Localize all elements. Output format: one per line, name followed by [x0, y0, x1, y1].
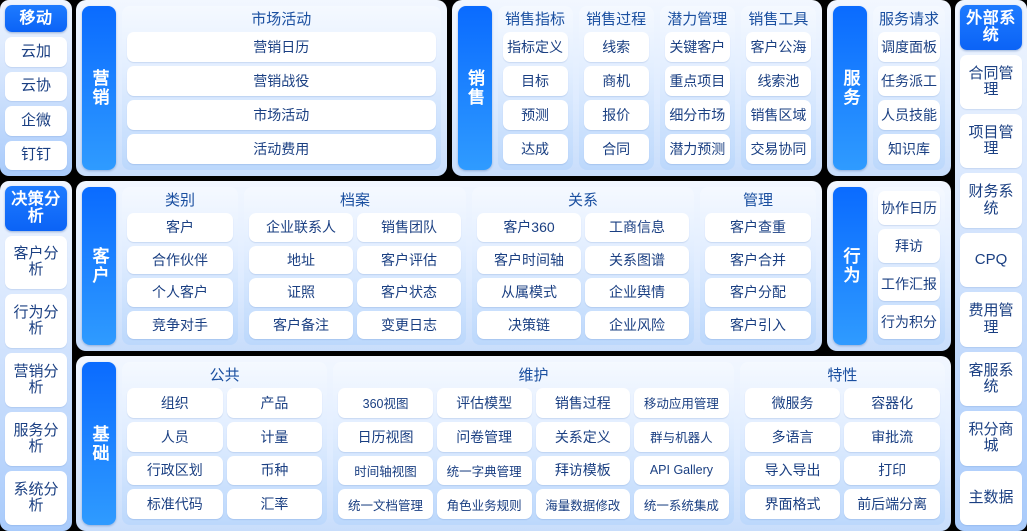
sidebar-item-行为分析[interactable]: 行为分析 [5, 294, 67, 348]
sidebar-item-服务分析[interactable]: 服务分析 [5, 412, 67, 466]
content-row: 基础公共组织产品人员计量行政区划币种标准代码汇率维护360视图评估模型销售过程移… [76, 356, 951, 531]
application-root: 移动云加云协企微钉钉决策分析客户分析行为分析营销分析服务分析系统分析 营销市场活… [0, 0, 1027, 531]
tile-决策链[interactable]: 决策链 [477, 311, 581, 340]
group-title: 销售指标 [503, 10, 568, 32]
sidebar-item-云加[interactable]: 云加 [5, 37, 67, 66]
tile-360视图[interactable]: 360视图 [338, 388, 433, 418]
section-tab-label: 行为 [842, 247, 859, 285]
tile-竞争对手[interactable]: 竞争对手 [127, 311, 233, 340]
group-管理: 管理客户查重客户合并客户分配客户引入 [700, 187, 816, 345]
tile-前后端分离[interactable]: 前后端分离 [844, 489, 940, 519]
tile-营销战役[interactable]: 营销战役 [127, 66, 436, 96]
tile-拜访模板[interactable]: 拜访模板 [536, 456, 631, 486]
tile-客户时间轴[interactable]: 客户时间轴 [477, 246, 581, 275]
sidebar-item-营销分析[interactable]: 营销分析 [5, 353, 67, 407]
tile-统一系统集成[interactable]: 统一系统集成 [634, 489, 729, 519]
tile-指标定义[interactable]: 指标定义 [503, 32, 568, 62]
left-rail-header: 决策分析 [5, 186, 67, 231]
group-title: 类别 [127, 191, 233, 213]
tile-界面格式[interactable]: 界面格式 [745, 489, 841, 519]
group-title: 销售过程LTC [584, 10, 649, 32]
tile-地址[interactable]: 地址 [249, 246, 353, 275]
tile-合作伙伴[interactable]: 合作伙伴 [127, 246, 233, 275]
group-grid: 指标定义目标预测达成 [503, 32, 568, 164]
left-rail-header: 移动 [5, 5, 67, 32]
tile-企业联系人[interactable]: 企业联系人 [249, 213, 353, 242]
group-销售过程LTC: 销售过程LTC线索商机报价合同 [579, 6, 654, 170]
tile-行政区划[interactable]: 行政区划 [127, 456, 223, 486]
tile-标准代码[interactable]: 标准代码 [127, 489, 223, 519]
tile-多语言[interactable]: 多语言 [745, 422, 841, 452]
tile-客户公海[interactable]: 客户公海 [746, 32, 811, 62]
tile-销售团队[interactable]: 销售团队 [357, 213, 461, 242]
tile-组织[interactable]: 组织 [127, 388, 223, 418]
tile-工商信息[interactable]: 工商信息 [585, 213, 689, 242]
group-grid: 360视图评估模型销售过程移动应用管理日历视图问卷管理关系定义群与机器人时间轴视… [338, 388, 729, 519]
sidebar-item-云协[interactable]: 云协 [5, 72, 67, 101]
tile-人员技能[interactable]: 人员技能 [878, 100, 940, 130]
tile-个人客户[interactable]: 个人客户 [127, 278, 233, 307]
group-销售工具: 销售工具客户公海线索池销售区域交易协同 [741, 6, 816, 170]
left-rail-panel: 移动云加云协企微钉钉 [0, 0, 72, 176]
tile-人员[interactable]: 人员 [127, 422, 223, 452]
tile-销售区域[interactable]: 销售区域 [746, 100, 811, 130]
group-行为: 协作日历拜访工作汇报行为积分 [873, 187, 945, 345]
group-grid: 营销日历营销战役市场活动活动费用 [127, 32, 436, 164]
tile-从属模式[interactable]: 从属模式 [477, 278, 581, 307]
tile-合同[interactable]: 合同 [584, 134, 649, 164]
group-档案: 档案企业联系人销售团队地址客户评估证照客户状态客户备注变更日志 [244, 187, 466, 345]
tile-企业风险[interactable]: 企业风险 [585, 311, 689, 340]
right-sidebar: 外部系统合同管理项目管理财务系统CPQ费用管理客服系统积分商城主数据 [955, 0, 1027, 531]
sidebar-item-系统分析[interactable]: 系统分析 [5, 471, 67, 525]
group-公共: 公共组织产品人员计量行政区划币种标准代码汇率 [122, 362, 327, 525]
tile-客户引入[interactable]: 客户引入 [705, 311, 811, 340]
tile-海量数据修改[interactable]: 海量数据修改 [536, 489, 631, 519]
sidebar-item-CPQ[interactable]: CPQ [960, 233, 1022, 287]
group-grid: 客户360工商信息客户时间轴关系图谱从属模式企业舆情决策链企业风险 [477, 213, 689, 339]
tile-打印[interactable]: 打印 [844, 456, 940, 486]
tile-预测[interactable]: 预测 [503, 100, 568, 130]
group-关系: 关系客户360工商信息客户时间轴关系图谱从属模式企业舆情决策链企业风险 [472, 187, 694, 345]
tile-审批流[interactable]: 审批流 [844, 422, 940, 452]
group-销售指标: 销售指标指标定义目标预测达成 [498, 6, 573, 170]
tile-行为积分[interactable]: 行为积分 [878, 305, 940, 339]
section-营销: 营销市场活动营销日历营销战役市场活动活动费用 [76, 0, 447, 176]
group-grid: 关键客户重点项目细分市场潜力预测 [665, 32, 730, 164]
right-rail-panel: 外部系统合同管理项目管理财务系统CPQ费用管理客服系统积分商城主数据 [955, 0, 1027, 531]
tile-变更日志[interactable]: 变更日志 [357, 311, 461, 340]
tile-统一文档管理[interactable]: 统一文档管理 [338, 489, 433, 519]
tile-群与机器人[interactable]: 群与机器人 [634, 422, 729, 452]
main-content: 营销市场活动营销日历营销战役市场活动活动费用销售销售指标指标定义目标预测达成销售… [76, 0, 951, 531]
content-row: 客户类别客户合作伙伴个人客户竞争对手档案企业联系人销售团队地址客户评估证照客户状… [76, 181, 951, 351]
content-row: 营销市场活动营销日历营销战役市场活动活动费用销售销售指标指标定义目标预测达成销售… [76, 0, 951, 176]
section-tab-客户[interactable]: 客户 [82, 187, 116, 345]
tile-微服务[interactable]: 微服务 [745, 388, 841, 418]
tile-客户分配[interactable]: 客户分配 [705, 278, 811, 307]
group-container: 服务请求调度面板任务派工人员技能知识库 [873, 6, 945, 170]
sidebar-item-主数据[interactable]: 主数据 [960, 471, 1022, 525]
tile-活动费用[interactable]: 活动费用 [127, 134, 436, 164]
group-类别: 类别客户合作伙伴个人客户竞争对手 [122, 187, 238, 345]
tile-产品[interactable]: 产品 [227, 388, 323, 418]
group-title: 潜力管理 [665, 10, 730, 32]
tile-工作汇报[interactable]: 工作汇报 [878, 267, 940, 301]
sidebar-item-费用管理[interactable]: 费用管理 [960, 292, 1022, 346]
tile-报价[interactable]: 报价 [584, 100, 649, 130]
group-title: 销售工具 [746, 10, 811, 32]
tile-销售过程[interactable]: 销售过程 [536, 388, 631, 418]
group-title: 特性 [745, 366, 940, 388]
group-潜力管理: 潜力管理关键客户重点项目细分市场潜力预测 [660, 6, 735, 170]
section-tab-销售[interactable]: 销售 [458, 6, 492, 170]
sidebar-item-项目管理[interactable]: 项目管理 [960, 114, 1022, 168]
tile-任务派工[interactable]: 任务派工 [878, 66, 940, 96]
section-tab-label: 营销 [91, 69, 108, 107]
tile-问卷管理[interactable]: 问卷管理 [437, 422, 532, 452]
group-title: 管理 [705, 191, 811, 213]
tile-调度面板[interactable]: 调度面板 [878, 32, 940, 62]
section-tab-label: 销售 [466, 69, 483, 107]
group-title: 服务请求 [878, 10, 940, 32]
tile-日历视图[interactable]: 日历视图 [338, 422, 433, 452]
tile-商机[interactable]: 商机 [584, 66, 649, 96]
group-title: 市场活动 [127, 10, 436, 32]
tile-细分市场[interactable]: 细分市场 [665, 100, 730, 130]
tile-客户状态[interactable]: 客户状态 [357, 278, 461, 307]
sidebar-item-合同管理[interactable]: 合同管理 [960, 55, 1022, 109]
tile-营销日历[interactable]: 营销日历 [127, 32, 436, 62]
group-container: 市场活动营销日历营销战役市场活动活动费用 [122, 6, 441, 170]
sidebar-item-积分商城[interactable]: 积分商城 [960, 411, 1022, 465]
tile-线索[interactable]: 线索 [584, 32, 649, 62]
sidebar-item-钉钉[interactable]: 钉钉 [5, 141, 67, 170]
group-市场活动: 市场活动营销日历营销战役市场活动活动费用 [122, 6, 441, 170]
section-tab-服务[interactable]: 服务 [833, 6, 867, 170]
tile-计量[interactable]: 计量 [227, 422, 323, 452]
section-销售: 销售销售指标指标定义目标预测达成销售过程LTC线索商机报价合同潜力管理关键客户重… [452, 0, 823, 176]
tile-关系定义[interactable]: 关系定义 [536, 422, 631, 452]
group-服务请求: 服务请求调度面板任务派工人员技能知识库 [873, 6, 945, 170]
section-服务: 服务服务请求调度面板任务派工人员技能知识库 [827, 0, 951, 176]
left-sidebar: 移动云加云协企微钉钉决策分析客户分析行为分析营销分析服务分析系统分析 [0, 0, 72, 531]
sidebar-item-客户分析[interactable]: 客户分析 [5, 236, 67, 290]
left-rail-panel: 决策分析客户分析行为分析营销分析服务分析系统分析 [0, 181, 72, 531]
tile-潜力预测[interactable]: 潜力预测 [665, 134, 730, 164]
section-基础: 基础公共组织产品人员计量行政区划币种标准代码汇率维护360视图评估模型销售过程移… [76, 356, 951, 531]
section-tab-基础[interactable]: 基础 [82, 362, 116, 525]
tile-目标[interactable]: 目标 [503, 66, 568, 96]
group-特性: 特性微服务容器化多语言审批流导入导出打印界面格式前后端分离 [740, 362, 945, 525]
tile-汇率[interactable]: 汇率 [227, 489, 323, 519]
group-grid: 客户公海线索池销售区域交易协同 [746, 32, 811, 164]
tile-移动应用管理[interactable]: 移动应用管理 [634, 388, 729, 418]
tile-客户评估[interactable]: 客户评估 [357, 246, 461, 275]
tile-企业舆情[interactable]: 企业舆情 [585, 278, 689, 307]
group-维护: 维护360视图评估模型销售过程移动应用管理日历视图问卷管理关系定义群与机器人时间… [333, 362, 734, 525]
sidebar-item-客服系统[interactable]: 客服系统 [960, 352, 1022, 406]
tile-线索池[interactable]: 线索池 [746, 66, 811, 96]
group-grid: 企业联系人销售团队地址客户评估证照客户状态客户备注变更日志 [249, 213, 461, 339]
section-tab-label: 客户 [91, 247, 108, 285]
group-grid: 微服务容器化多语言审批流导入导出打印界面格式前后端分离 [745, 388, 940, 519]
section-tab-label: 服务 [842, 69, 859, 107]
section-客户: 客户类别客户合作伙伴个人客户竞争对手档案企业联系人销售团队地址客户评估证照客户状… [76, 181, 822, 351]
group-container: 公共组织产品人员计量行政区划币种标准代码汇率维护360视图评估模型销售过程移动应… [122, 362, 945, 525]
tile-证照[interactable]: 证照 [249, 278, 353, 307]
sidebar-item-财务系统[interactable]: 财务系统 [960, 173, 1022, 227]
tile-客户[interactable]: 客户 [127, 213, 233, 242]
sidebar-item-企微[interactable]: 企微 [5, 106, 67, 135]
section-tab-行为[interactable]: 行为 [833, 187, 867, 345]
tile-客户查重[interactable]: 客户查重 [705, 213, 811, 242]
tile-时间轴视图[interactable]: 时间轴视图 [338, 456, 433, 486]
tile-达成[interactable]: 达成 [503, 134, 568, 164]
group-container: 类别客户合作伙伴个人客户竞争对手档案企业联系人销售团队地址客户评估证照客户状态客… [122, 187, 816, 345]
tile-关系图谱[interactable]: 关系图谱 [585, 246, 689, 275]
tile-容器化[interactable]: 容器化 [844, 388, 940, 418]
right-rail-header: 外部系统 [960, 5, 1022, 50]
tile-重点项目[interactable]: 重点项目 [665, 66, 730, 96]
tile-客户备注[interactable]: 客户备注 [249, 311, 353, 340]
group-title: 公共 [127, 366, 322, 388]
group-container: 销售指标指标定义目标预测达成销售过程LTC线索商机报价合同潜力管理关键客户重点项… [498, 6, 817, 170]
tile-关键客户[interactable]: 关键客户 [665, 32, 730, 62]
group-grid: 组织产品人员计量行政区划币种标准代码汇率 [127, 388, 322, 519]
group-grid: 客户查重客户合并客户分配客户引入 [705, 213, 811, 339]
tile-评估模型[interactable]: 评估模型 [437, 388, 532, 418]
tile-客户合并[interactable]: 客户合并 [705, 246, 811, 275]
tile-交易协同[interactable]: 交易协同 [746, 134, 811, 164]
tile-拜访[interactable]: 拜访 [878, 229, 940, 263]
tile-角色业务规则[interactable]: 角色业务规则 [437, 489, 532, 519]
tile-API Gallery[interactable]: API Gallery [634, 456, 729, 486]
section-行为: 行为协作日历拜访工作汇报行为积分 [827, 181, 951, 351]
group-title: 关系 [477, 191, 689, 213]
group-grid: 协作日历拜访工作汇报行为积分 [878, 191, 940, 339]
group-title: 维护 [338, 366, 729, 388]
tile-币种[interactable]: 币种 [227, 456, 323, 486]
group-container: 协作日历拜访工作汇报行为积分 [873, 187, 945, 345]
group-grid: 线索商机报价合同 [584, 32, 649, 164]
tile-导入导出[interactable]: 导入导出 [745, 456, 841, 486]
tile-客户360[interactable]: 客户360 [477, 213, 581, 242]
group-grid: 客户合作伙伴个人客户竞争对手 [127, 213, 233, 339]
group-title: 档案 [249, 191, 461, 213]
tile-市场活动[interactable]: 市场活动 [127, 100, 436, 130]
tile-知识库[interactable]: 知识库 [878, 134, 940, 164]
tile-统一字典管理[interactable]: 统一字典管理 [437, 456, 532, 486]
tile-协作日历[interactable]: 协作日历 [878, 191, 940, 225]
section-tab-label: 基础 [91, 425, 108, 463]
group-grid: 调度面板任务派工人员技能知识库 [878, 32, 940, 164]
section-tab-营销[interactable]: 营销 [82, 6, 116, 170]
